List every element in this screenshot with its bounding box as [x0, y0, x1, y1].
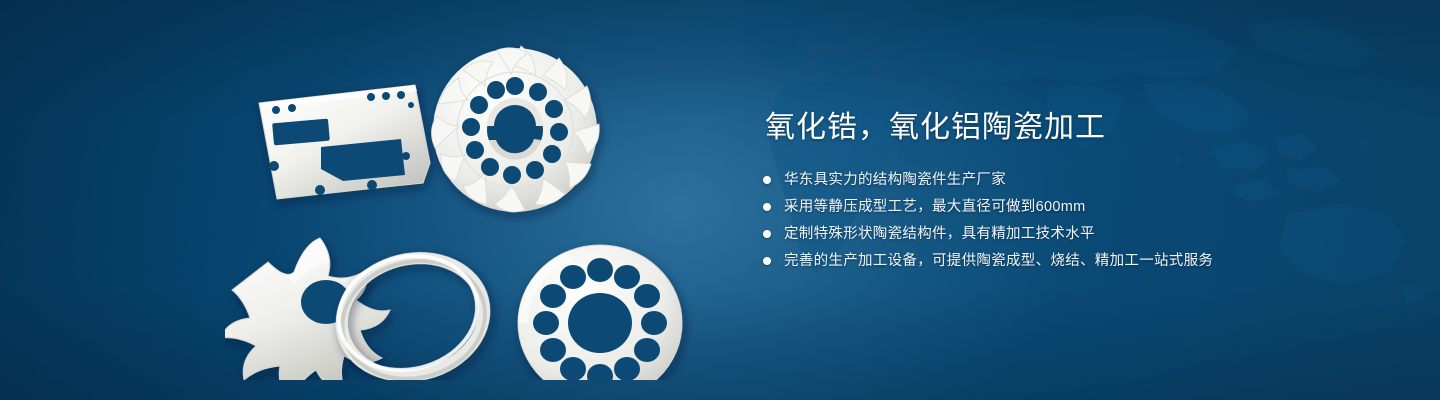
list-item: 定制特殊形状陶瓷结构件，具有精加工技术水平 [763, 224, 1383, 244]
bullet-dot-icon [763, 230, 771, 238]
ceramic-plate-part [259, 85, 430, 199]
banner-copy: 氧化锆，氧化铝陶瓷加工 华东具实力的结构陶瓷件生产厂家 采用等静压成型工艺，最大… [763, 108, 1383, 278]
list-item: 完善的生产加工设备，可提供陶瓷成型、烧结、精加工一站式服务 [763, 251, 1383, 271]
page-title: 氧化锆，氧化铝陶瓷加工 [765, 108, 1383, 148]
ceramic-impeller-part [431, 46, 599, 212]
bullet-dot-icon [763, 176, 771, 184]
ceramic-flange-part [518, 245, 682, 380]
hero-banner: 氧化锆，氧化铝陶瓷加工 华东具实力的结构陶瓷件生产厂家 采用等静压成型工艺，最大… [0, 0, 1440, 400]
bullet-dot-icon [763, 203, 771, 211]
bullet-dot-icon [763, 257, 771, 265]
ceramic-products-image [225, 35, 705, 380]
list-item: 华东具实力的结构陶瓷件生产厂家 [763, 170, 1383, 190]
feature-text: 华东具实力的结构陶瓷件生产厂家 [784, 170, 1006, 190]
feature-list: 华东具实力的结构陶瓷件生产厂家 采用等静压成型工艺，最大直径可做到600mm 定… [763, 170, 1383, 271]
list-item: 采用等静压成型工艺，最大直径可做到600mm [763, 197, 1383, 217]
feature-text: 完善的生产加工设备，可提供陶瓷成型、烧结、精加工一站式服务 [784, 251, 1213, 271]
feature-text: 采用等静压成型工艺，最大直径可做到600mm [784, 197, 1085, 217]
feature-text: 定制特殊形状陶瓷结构件，具有精加工技术水平 [784, 224, 1095, 244]
